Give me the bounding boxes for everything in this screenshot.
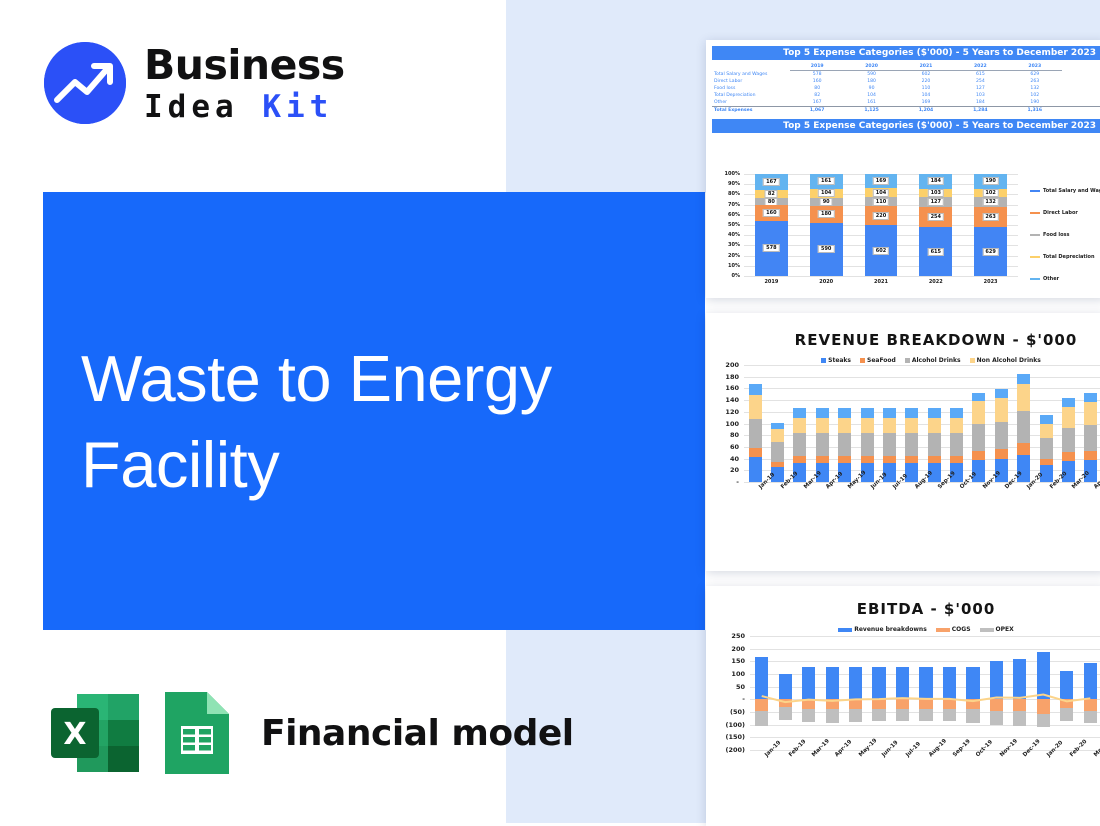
legend-label: Other: [1043, 276, 1059, 282]
bar-value-label: 578: [763, 244, 779, 252]
y-axis-tick: 100: [716, 420, 739, 428]
x-axis-tick: Nov-19: [999, 738, 1019, 758]
y-axis-tick: 200: [716, 361, 739, 369]
bar-segment: 90: [810, 198, 843, 206]
bar-segment: [972, 451, 985, 460]
bar-segment: [1062, 398, 1075, 407]
cell: 110: [899, 85, 953, 92]
bar-segment: [1062, 428, 1075, 453]
stacked-bar: [1084, 365, 1097, 482]
bar-cogs: [1013, 699, 1026, 711]
total-cell: 1,125: [844, 107, 898, 115]
bar-segment: 80: [755, 198, 788, 206]
expense-chart-banner: Top 5 Expense Categories ($'000) - 5 Yea…: [712, 119, 1100, 133]
brand-name-secondary: Idea: [144, 89, 239, 125]
bar-segment: [883, 456, 896, 463]
col-2022: 2022: [953, 63, 1007, 71]
bar-segment: 615: [919, 227, 952, 276]
bar-cogs: [919, 699, 932, 709]
table-header-row: 2019 2020 2021 2022 2023: [712, 63, 1100, 71]
y-axis-tick: 200: [716, 645, 745, 653]
y-axis-tick: (200): [716, 746, 745, 754]
bar-segment: 254: [919, 207, 952, 227]
bar-value-label: 102: [982, 189, 998, 197]
x-axis-tick: Mar-20: [1093, 738, 1100, 758]
cell: 132: [1008, 85, 1062, 92]
bar-segment: [928, 408, 941, 419]
bar-segment: [950, 456, 963, 463]
col-2023: 2023: [1008, 63, 1062, 71]
bar-segment: [816, 456, 829, 463]
bar-segment: 167: [755, 174, 788, 190]
x-axis-tick: Sep-19: [952, 738, 972, 758]
bar-segment: [838, 418, 851, 433]
bar-segment: [861, 456, 874, 463]
bar-opex: [1037, 714, 1050, 727]
bar-revenue: [1060, 671, 1073, 699]
bar-value-label: 167: [763, 178, 779, 186]
total-cell: 1,067: [790, 107, 844, 115]
bar-cogs: [896, 699, 909, 709]
bar-segment: [950, 408, 963, 419]
gridline: [744, 276, 1018, 277]
col-2019: 2019: [790, 63, 844, 71]
legend-label: Total Salary and Wages: [1043, 188, 1100, 194]
bar-value-label: 169: [873, 177, 889, 185]
stacked-bar: [1017, 365, 1030, 482]
bar-revenue: [919, 667, 932, 699]
col-2020: 2020: [844, 63, 898, 71]
bar-segment: 190: [974, 174, 1007, 189]
bar-segment: [905, 408, 918, 419]
bar-segment: 161: [810, 174, 843, 189]
total-cell: 1,284: [953, 107, 1007, 115]
bar-segment: 602: [865, 225, 898, 276]
cell: 615: [953, 71, 1007, 79]
expense-table-banner: Top 5 Expense Categories ($'000) - 5 Yea…: [712, 46, 1100, 60]
legend-item[interactable]: Other: [1030, 276, 1100, 282]
gridline: [750, 636, 1100, 637]
google-sheets-icon: [159, 686, 235, 780]
bar-revenue: [802, 667, 815, 699]
bar-segment: 169: [865, 174, 898, 188]
stacked-bar: [749, 365, 762, 482]
bar-value-label: 160: [763, 209, 779, 217]
row-label: Direct Labor: [712, 78, 790, 85]
bar-revenue: [896, 667, 909, 699]
bar-revenue: [872, 667, 885, 699]
cell: 104: [844, 92, 898, 99]
bar-cogs: [849, 699, 862, 709]
cell: 629: [1008, 71, 1062, 79]
y-axis-tick: 70%: [714, 202, 740, 208]
y-axis-tick: 30%: [714, 242, 740, 248]
legend-swatch: [1030, 212, 1040, 214]
bar-segment: 160: [755, 205, 788, 220]
expense-categories-card[interactable]: Top 5 Expense Categories ($'000) - 5 Yea…: [706, 40, 1100, 298]
bar-segment: [972, 393, 985, 402]
y-axis-tick: (150): [716, 733, 745, 741]
bar-cogs: [779, 699, 792, 707]
expense-table: 2019 2020 2021 2022 2023 Total Salary an…: [712, 63, 1100, 114]
bar-segment: [995, 389, 1008, 398]
bar-segment: [838, 408, 851, 419]
y-axis-tick: 150: [716, 657, 745, 665]
bar-cogs: [943, 699, 956, 709]
stacked-bar: 1678280160578: [755, 174, 788, 276]
y-axis-tick: 180: [716, 373, 739, 381]
bar-cogs: [872, 699, 885, 709]
brand-name-primary: Business: [144, 45, 345, 86]
bar-segment: 127: [919, 197, 952, 207]
y-axis-tick: 50: [716, 683, 745, 691]
bar-opex: [1084, 711, 1097, 724]
bar-segment: [972, 424, 985, 451]
bar-cogs: [802, 699, 815, 709]
bar-segment: [1017, 443, 1030, 454]
table-row: Other 167 161 169 184 190: [712, 99, 1100, 107]
bar-value-label: 90: [820, 198, 833, 206]
stacked-bar: [816, 365, 829, 482]
y-axis-tick: 40%: [714, 232, 740, 238]
legend-label: Food loss: [1043, 232, 1070, 238]
bar-segment: [995, 398, 1008, 422]
cell: 82: [790, 92, 844, 99]
bar-segment: [928, 433, 941, 456]
bar-segment: 220: [865, 206, 898, 225]
bar-segment: [749, 395, 762, 419]
stacked-bar: [771, 365, 784, 482]
cell: 80: [790, 85, 844, 92]
bar-segment: [928, 418, 941, 433]
ebitda-bar-chart: 25020015010050-(50)(100)(150)(200)Jan-19…: [716, 632, 1100, 792]
bar-segment: [883, 433, 896, 456]
bar-opex: [1060, 708, 1073, 721]
y-axis-tick: 90%: [714, 181, 740, 187]
cell: 169: [899, 99, 953, 107]
bar-segment: [861, 408, 874, 419]
y-axis-tick: 20%: [714, 253, 740, 259]
x-axis-tick: 2020: [799, 279, 854, 285]
format-label: Financial model: [261, 713, 574, 754]
bar-value-label: 220: [873, 212, 889, 220]
bar-opex: [872, 709, 885, 721]
bar-revenue: [755, 657, 768, 699]
bar-opex: [802, 709, 815, 722]
bar-segment: 132: [974, 197, 1007, 207]
bar-segment: [749, 384, 762, 395]
legend-item[interactable]: Total Depreciation: [1030, 254, 1100, 260]
cell: 254: [953, 78, 1007, 85]
bar-segment: 590: [810, 223, 843, 276]
bar-segment: [905, 456, 918, 463]
bar-revenue: [779, 674, 792, 700]
y-axis-tick: 80%: [714, 191, 740, 197]
bar-value-label: 602: [873, 247, 889, 255]
bar-opex: [826, 709, 839, 723]
bar-value-label: 110: [873, 198, 889, 206]
bar-segment: [928, 456, 941, 463]
bar-segment: 629: [974, 227, 1007, 276]
y-axis-tick: -: [716, 695, 745, 703]
bar-segment: 104: [865, 188, 898, 197]
legend-item[interactable]: Direct Labor: [1030, 210, 1100, 216]
legend-item[interactable]: Total Salary and Wages: [1030, 188, 1100, 194]
bar-opex: [966, 709, 979, 723]
bar-segment: [793, 418, 806, 433]
bar-segment: [905, 433, 918, 456]
bar-value-label: 184: [928, 177, 944, 185]
stacked-bar: [905, 365, 918, 482]
bar-opex: [849, 709, 862, 722]
bar-cogs: [1060, 699, 1073, 708]
cell: 102: [1008, 92, 1062, 99]
cell: 103: [953, 92, 1007, 99]
x-axis-tick: Apr-19: [834, 739, 853, 758]
cell: 127: [953, 85, 1007, 92]
stacked-bar: [972, 365, 985, 482]
bar-segment: [861, 418, 874, 433]
row-label: Other: [712, 99, 790, 107]
bar-opex: [919, 709, 932, 721]
x-axis-tick: Feb-20: [1069, 739, 1088, 758]
bar-segment: [883, 408, 896, 419]
bar-opex: [1013, 711, 1026, 725]
bar-segment: [793, 433, 806, 456]
stacked-bar: [995, 365, 1008, 482]
bar-segment: [816, 433, 829, 456]
table-total-row: Total Expenses 1,067 1,125 1,204 1,284 1…: [712, 107, 1100, 115]
stacked-bar: [928, 365, 941, 482]
bar-segment: [905, 418, 918, 433]
y-axis-tick: 160: [716, 384, 739, 392]
x-axis-tick: Dec-19: [1022, 739, 1042, 759]
bar-segment: 578: [755, 221, 788, 276]
table-row: Total Salary and Wages 578 590 602 615 6…: [712, 71, 1100, 79]
legend-label: Total Depreciation: [1043, 254, 1095, 260]
bar-segment: [749, 419, 762, 448]
bar-revenue: [826, 667, 839, 699]
bar-segment: [995, 422, 1008, 449]
total-cell: 1,316: [1008, 107, 1062, 115]
cell: 578: [790, 71, 844, 79]
bar-segment: [838, 456, 851, 463]
bar-value-label: 615: [928, 248, 944, 256]
legend-swatch: [936, 628, 950, 632]
bar-segment: 104: [810, 189, 843, 198]
bar-value-label: 103: [928, 189, 944, 197]
bar-segment: [793, 408, 806, 419]
total-label: Total Expenses: [712, 107, 790, 115]
revenue-chart-title: REVENUE BREAKDOWN - $'000: [706, 331, 1100, 349]
bar-segment: 82: [755, 190, 788, 198]
table-row: Food loss 80 90 110 127 132: [712, 85, 1100, 92]
bar-opex: [990, 711, 1003, 725]
brand-name-accent: Kit: [262, 89, 333, 125]
y-axis-tick: 100: [716, 670, 745, 678]
x-axis-tick: 2022: [908, 279, 963, 285]
y-axis-tick: 60: [716, 443, 739, 451]
stacked-bar: 16110490180590: [810, 174, 843, 276]
bar-revenue: [943, 667, 956, 699]
y-axis-tick: 0%: [714, 273, 740, 279]
stacked-bar: [793, 365, 806, 482]
bar-segment: [1040, 438, 1053, 458]
cell: 220: [899, 78, 953, 85]
bar-segment: [816, 408, 829, 419]
stacked-bar: 184103127254615: [919, 174, 952, 276]
bar-revenue: [849, 667, 862, 699]
x-axis-tick: Oct-19: [975, 739, 994, 758]
bar-segment: [1017, 384, 1030, 411]
stacked-bar: [1062, 365, 1075, 482]
microsoft-excel-icon: X: [47, 686, 141, 780]
bar-cogs: [1084, 699, 1097, 710]
col-2021: 2021: [899, 63, 953, 71]
total-cell: 1,204: [899, 107, 953, 115]
row-label: Total Salary and Wages: [712, 71, 790, 79]
bar-segment: [950, 433, 963, 456]
bar-segment: [1040, 424, 1053, 438]
bar-segment: 180: [810, 206, 843, 222]
stacked-bar: [950, 365, 963, 482]
bar-segment: [950, 418, 963, 433]
cell: 263: [1008, 78, 1062, 85]
legend-item[interactable]: Food loss: [1030, 232, 1100, 238]
ebitda-card[interactable]: EBITDA - $'000 Revenue breakdownsCOGSOPE…: [706, 586, 1100, 826]
bar-value-label: 263: [982, 213, 998, 221]
expense-chart-legend: Total Salary and WagesDirect LaborFood l…: [1030, 188, 1100, 298]
bar-group: 1678280160578161104901805901691041102206…: [744, 174, 1018, 276]
stacked-bar: 169104110220602: [865, 174, 898, 276]
row-label: Food loss: [712, 85, 790, 92]
bar-group: [744, 365, 1100, 482]
bar-revenue: [1084, 663, 1097, 699]
format-badge-row: X Financial model: [47, 686, 574, 780]
stacked-bar: [883, 365, 896, 482]
x-axis-tick: 2019: [744, 279, 799, 285]
bar-opex: [779, 707, 792, 719]
bar-segment: [816, 418, 829, 433]
cell: 190: [1008, 99, 1062, 107]
bar-revenue: [1037, 652, 1050, 699]
bar-segment: 263: [974, 207, 1007, 227]
bar-cogs: [755, 699, 768, 711]
stacked-bar: [1040, 365, 1053, 482]
bar-value-label: 590: [818, 245, 834, 253]
bar-cogs: [1037, 699, 1050, 714]
bar-segment: [1084, 393, 1097, 402]
legend-label: Direct Labor: [1043, 210, 1078, 216]
x-axis-tick: Mar-19: [811, 738, 831, 758]
y-axis-tick: (100): [716, 721, 745, 729]
cell: 104: [899, 92, 953, 99]
bar-opex: [943, 709, 956, 721]
legend-swatch: [1030, 256, 1040, 258]
brand-logo: Business Idea Kit: [44, 42, 345, 124]
stacked-bar: [838, 365, 851, 482]
x-axis-labels: 20192020202120222023: [744, 279, 1018, 285]
cell: 160: [790, 78, 844, 85]
bar-value-label: 127: [928, 198, 944, 206]
x-axis-tick: 2021: [854, 279, 909, 285]
bar-segment: [1084, 425, 1097, 451]
cell: 167: [790, 99, 844, 107]
stacked-bar: [861, 365, 874, 482]
bar-segment: [861, 433, 874, 456]
bar-value-label: 161: [818, 177, 834, 185]
bar-segment: [749, 448, 762, 458]
y-axis-tick: 40: [716, 455, 739, 463]
x-axis-tick: 2023: [963, 279, 1018, 285]
table-row: Direct Labor 160 180 220 254 263: [712, 78, 1100, 85]
legend-swatch: [980, 628, 994, 632]
bar-segment: [1084, 451, 1097, 460]
table-row: Total Depreciation 82 104 104 103 102: [712, 92, 1100, 99]
revenue-breakdown-card[interactable]: REVENUE BREAKDOWN - $'000 SteaksSeaFoodA…: [706, 313, 1100, 571]
bar-value-label: 180: [818, 210, 834, 218]
bar-segment: [1017, 411, 1030, 443]
bar-segment: [749, 457, 762, 482]
bar-value-label: 254: [928, 213, 944, 221]
bar-value-label: 629: [982, 248, 998, 256]
bar-value-label: 132: [982, 198, 998, 206]
bar-segment: [883, 418, 896, 433]
y-axis-tick: 100%: [714, 171, 740, 177]
revenue-stacked-chart: -20406080100120140160180200Jan-19Feb-19M…: [716, 361, 1100, 526]
ebitda-chart-title: EBITDA - $'000: [706, 600, 1100, 618]
y-axis-tick: 140: [716, 396, 739, 404]
bar-value-label: 104: [873, 189, 889, 197]
bar-segment: [838, 433, 851, 456]
bar-segment: [771, 442, 784, 461]
y-axis-tick: 250: [716, 632, 745, 640]
bar-revenue: [990, 661, 1003, 700]
bar-segment: [1062, 407, 1075, 428]
bar-value-label: 190: [982, 177, 998, 185]
y-axis-tick: 60%: [714, 212, 740, 218]
gridline: [750, 649, 1100, 650]
x-axis-tick: May-19: [858, 738, 878, 758]
y-axis-tick: 80: [716, 431, 739, 439]
cell: 161: [844, 99, 898, 107]
bar-segment: [1084, 402, 1097, 424]
legend-swatch: [838, 628, 852, 632]
x-axis-tick: Jun-19: [881, 740, 899, 758]
y-axis-tick: 20: [716, 466, 739, 474]
bar-revenue: [966, 667, 979, 699]
cell: 602: [899, 71, 953, 79]
page-title: Waste to Energy Facility: [81, 336, 552, 508]
cell: 184: [953, 99, 1007, 107]
cell: 90: [844, 85, 898, 92]
bar-segment: [995, 449, 1008, 459]
bar-cogs: [990, 699, 1003, 710]
bar-segment: 102: [974, 189, 1007, 197]
bar-revenue: [1013, 659, 1026, 699]
y-axis-tick: 50%: [714, 222, 740, 228]
y-axis-tick: 120: [716, 408, 739, 416]
bar-segment: [793, 456, 806, 463]
legend-swatch: [1030, 190, 1040, 192]
bar-segment: 110: [865, 197, 898, 206]
row-label: Total Depreciation: [712, 92, 790, 99]
x-axis-tick: Feb-19: [788, 739, 807, 758]
svg-text:X: X: [63, 717, 86, 752]
cell: 590: [844, 71, 898, 79]
bar-segment: 103: [919, 189, 952, 197]
legend-swatch: [1030, 234, 1040, 236]
